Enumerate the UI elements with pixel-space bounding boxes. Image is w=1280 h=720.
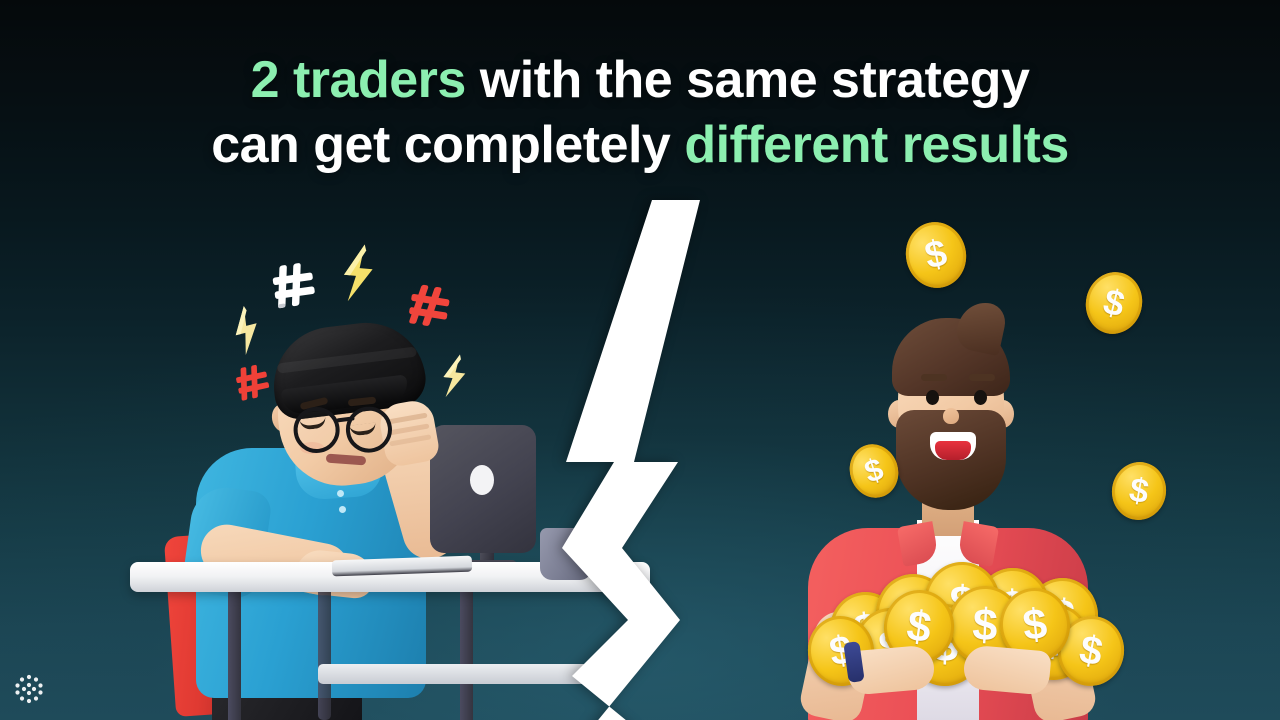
floating-coin-4: $ [1107,458,1170,524]
headline-accent-1: 2 traders [251,51,466,109]
hash-icon-red-upper [404,281,453,336]
polo-button-top [337,490,344,497]
headline-line-2: can get completely different results [0,113,1280,178]
lightning-bolt-icon-left [226,303,268,362]
hand-right-holding-coins [962,644,1052,695]
tongue [935,441,971,460]
headline-plain-1: with the same strategy [466,51,1030,109]
eye-right-2 [974,390,987,405]
hash-icon-white [269,259,320,316]
poster-canvas: $ $ $ $ [0,0,1280,720]
eyebrow-right-2 [969,374,995,381]
headline-line-1: 2 traders with the same strategy [0,48,1280,113]
logo-dots [15,675,42,703]
eye-left-2 [926,390,939,405]
desk-leg-back-left [318,586,331,720]
desk-cross-bar [318,664,588,684]
floating-coin-1: $ [900,216,972,293]
headline: 2 traders with the same strategy can get… [0,48,1280,178]
lightning-bolt-icon-right [437,352,471,404]
headline-accent-2: different results [684,116,1068,174]
floating-coin-2: $ [1079,266,1148,340]
full-beard [896,410,1006,510]
eyebrow-left-2 [921,374,947,381]
desk-leg-left [228,586,241,720]
zigzag-split-divider [560,200,750,720]
hash-icon-red-lower [232,361,274,408]
dotted-circle-logo[interactable] [12,672,46,706]
polo-button-bottom [339,506,346,513]
headline-plain-2: can get completely [211,116,684,174]
nose [943,408,959,424]
desk-leg-right [460,586,473,720]
smiling-open-mouth [930,432,976,460]
lightning-bolt-icon-top [337,243,378,309]
monitor-logo-dot [470,465,494,495]
divider-shape [562,200,700,720]
